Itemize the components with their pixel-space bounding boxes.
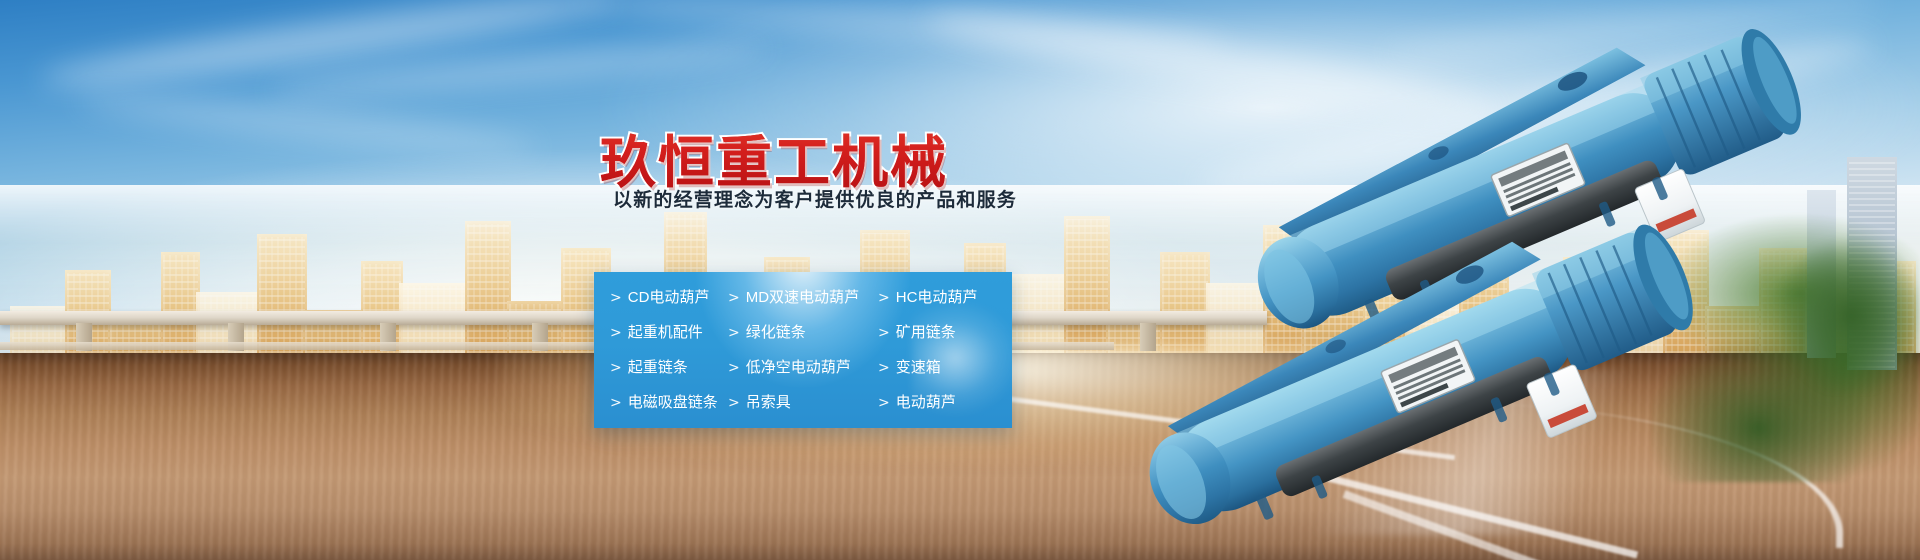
product-link-label: 绿化链条 xyxy=(746,325,806,340)
product-link-label: 矿用链条 xyxy=(896,325,956,340)
chevron-right-icon: > xyxy=(728,326,740,340)
chevron-right-icon: > xyxy=(728,361,740,375)
product-link-md-dual-speed-hoist[interactable]: > MD双速电动葫芦 xyxy=(728,290,878,305)
product-link-label: 吊索具 xyxy=(746,395,791,410)
chevron-right-icon: > xyxy=(878,396,890,410)
banner-content: 玖恒重工机械 玖恒重工机械 以新的经营理念为客户提供优良的产品和服务 > CD电… xyxy=(0,0,1920,560)
product-link-slings[interactable]: > 吊索具 xyxy=(728,395,878,410)
product-link-mining-chain[interactable]: > 矿用链条 xyxy=(878,325,1028,340)
promo-banner: 玖恒重工机械 玖恒重工机械 以新的经营理念为客户提供优良的产品和服务 > CD电… xyxy=(0,0,1920,560)
chevron-right-icon: > xyxy=(610,326,622,340)
chevron-right-icon: > xyxy=(610,396,622,410)
product-link-crane-parts[interactable]: > 起重机配件 xyxy=(610,325,728,340)
product-link-label: 电动葫芦 xyxy=(896,395,956,410)
product-link-label: 起重链条 xyxy=(628,360,688,375)
product-link-label: 起重机配件 xyxy=(628,325,703,340)
chevron-right-icon: > xyxy=(610,361,622,375)
chevron-right-icon: > xyxy=(728,291,740,305)
chevron-right-icon: > xyxy=(878,361,890,375)
product-link-lifting-chain[interactable]: > 起重链条 xyxy=(610,360,728,375)
product-link-label: MD双速电动葫芦 xyxy=(746,290,859,305)
banner-subtitle: 以新的经营理念为客户提供优良的产品和服务 xyxy=(613,185,1017,212)
product-links-grid: > CD电动葫芦 > MD双速电动葫芦 > HC电动葫芦 > 起重机配件 > xyxy=(594,272,1012,428)
product-link-magnetic-chuck-chain[interactable]: > 电磁吸盘链条 xyxy=(610,395,728,410)
product-link-greening-chain[interactable]: > 绿化链条 xyxy=(728,325,878,340)
product-link-label: 变速箱 xyxy=(896,360,941,375)
product-link-electric-hoist[interactable]: > 电动葫芦 xyxy=(878,395,1028,410)
product-link-label: CD电动葫芦 xyxy=(628,290,710,305)
product-link-label: 电磁吸盘链条 xyxy=(628,395,718,410)
chevron-right-icon: > xyxy=(878,291,890,305)
product-link-low-headroom-hoist[interactable]: > 低净空电动葫芦 xyxy=(728,360,878,375)
product-link-label: HC电动葫芦 xyxy=(896,290,978,305)
product-link-cd-hoist[interactable]: > CD电动葫芦 xyxy=(610,290,728,305)
chevron-right-icon: > xyxy=(610,291,622,305)
product-links-panel: > CD电动葫芦 > MD双速电动葫芦 > HC电动葫芦 > 起重机配件 > xyxy=(594,272,1012,428)
chevron-right-icon: > xyxy=(878,326,890,340)
product-link-hc-hoist[interactable]: > HC电动葫芦 xyxy=(878,290,1028,305)
product-link-label: 低净空电动葫芦 xyxy=(746,360,851,375)
product-link-gearbox[interactable]: > 变速箱 xyxy=(878,360,1028,375)
chevron-right-icon: > xyxy=(728,396,740,410)
